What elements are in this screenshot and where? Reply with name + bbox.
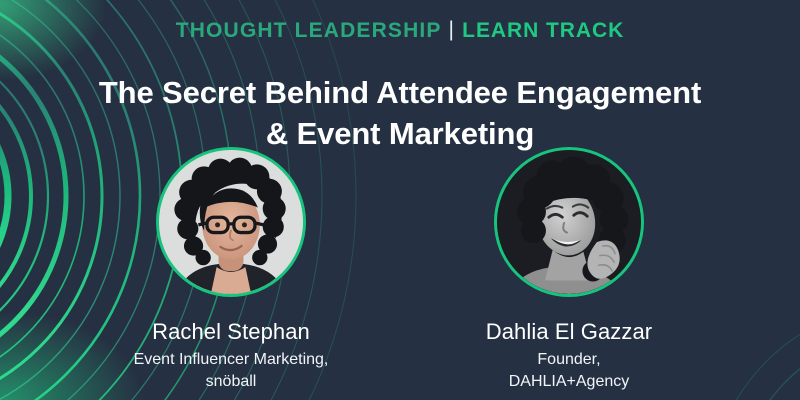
- speaker-role-line-1: Founder,: [509, 349, 630, 371]
- speaker-role: Event Influencer Marketing, snöball: [134, 349, 329, 392]
- speaker-name: Dahlia El Gazzar: [486, 319, 652, 344]
- speaker-role-line-1: Event Influencer Marketing,: [134, 349, 329, 371]
- avatar: [494, 147, 644, 297]
- speaker-card-dahlia-el-gazzar: Dahlia El Gazzar Founder, DAHLIA+Agency: [454, 147, 684, 392]
- eyebrow-primary-label: THOUGHT LEADERSHIP: [176, 19, 442, 42]
- avatar: [156, 147, 306, 297]
- eyebrow-secondary-label: LEARN TRACK: [462, 19, 624, 42]
- portrait-woman-curly-hair-glasses-icon: [159, 150, 303, 294]
- speaker-role-line-2: DAHLIA+Agency: [509, 371, 630, 393]
- speaker-promo-banner: THOUGHT LEADERSHIP|LEARN TRACK The Secre…: [0, 0, 800, 400]
- session-title-line-1: The Secret Behind Attendee Engagement: [0, 73, 800, 114]
- speaker-card-rachel-stephan: Rachel Stephan Event Influencer Marketin…: [116, 147, 346, 392]
- speaker-name: Rachel Stephan: [152, 319, 310, 344]
- speaker-list: Rachel Stephan Event Influencer Marketin…: [0, 147, 800, 392]
- speaker-role: Founder, DAHLIA+Agency: [509, 349, 630, 392]
- session-title: The Secret Behind Attendee Engagement & …: [0, 73, 800, 155]
- portrait-woman-smiling-curly-hair-bw-icon: [497, 150, 641, 294]
- eyebrow-divider: |: [449, 18, 456, 41]
- speaker-role-line-2: snöball: [134, 371, 329, 393]
- track-eyebrow: THOUGHT LEADERSHIP|LEARN TRACK: [0, 20, 800, 41]
